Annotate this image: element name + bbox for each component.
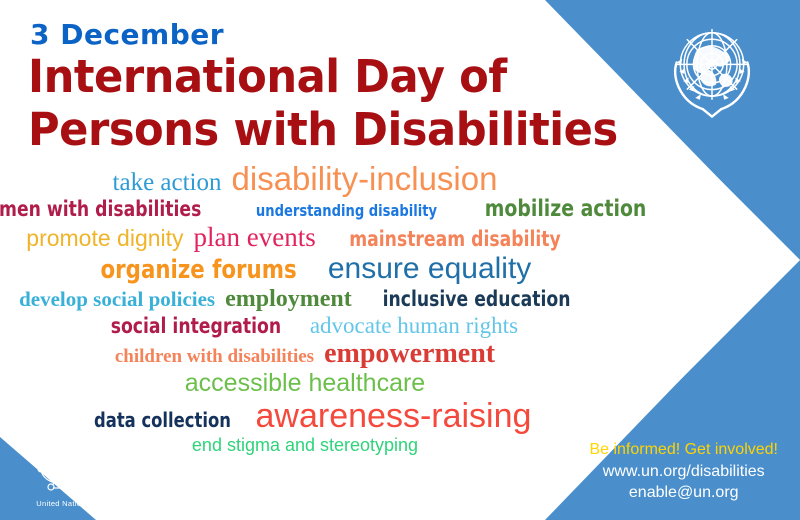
word-cloud-term: children with disabilities: [115, 347, 314, 366]
word-cloud-term: accessible healthcare: [185, 371, 425, 396]
accessible-logo-top-label: Accessible: [22, 441, 104, 448]
word-cloud-row: social integrationadvocate human rights: [0, 314, 610, 337]
contact-email[interactable]: enable@un.org: [589, 482, 778, 504]
word-cloud-term: advocate human rights: [310, 314, 518, 337]
word-cloud-row: develop social policiesemploymentinclusi…: [0, 287, 610, 311]
word-cloud-term: mainstream disability: [349, 229, 561, 250]
word-cloud-row: data collectionawareness-raising: [0, 399, 610, 433]
accessible-un-logo: Accessible United Nations: [22, 441, 104, 508]
word-cloud-term: inclusive education: [382, 289, 570, 310]
accessible-logo-bottom-label: United Nations: [22, 499, 104, 508]
word-cloud: take actiondisability-inclusionwomen wit…: [0, 162, 610, 457]
un-emblem-icon: [656, 16, 768, 124]
word-cloud-term: understanding disability: [256, 203, 437, 219]
word-cloud-row: children with disabilitiesempowerment: [0, 340, 610, 368]
word-cloud-row: accessible healthcare: [0, 371, 610, 396]
poster-canvas: 3 December International Day of Persons …: [0, 0, 800, 520]
word-cloud-term: plan events: [194, 224, 316, 251]
word-cloud-term: promote dignity: [26, 227, 183, 250]
word-cloud-term: empowerment: [324, 340, 495, 368]
word-cloud-term: employment: [225, 287, 352, 311]
word-cloud-term: mobilize action: [485, 198, 647, 221]
word-cloud-term: disability-inclusion: [232, 162, 498, 195]
contact-headline: Be informed! Get involved!: [589, 439, 778, 461]
contact-website[interactable]: www.un.org/disabilities: [589, 461, 778, 483]
word-cloud-term: ensure equality: [328, 254, 531, 284]
accessible-person-icon: [31, 449, 95, 493]
word-cloud-row: organize forumsensure equality: [0, 254, 610, 284]
date-label: 3 December: [30, 18, 224, 51]
word-cloud-term: women with disabilities: [0, 199, 201, 220]
word-cloud-row: promote dignityplan eventsmainstream dis…: [0, 224, 610, 251]
word-cloud-row: take actiondisability-inclusion: [0, 162, 610, 195]
word-cloud-term: data collection: [94, 410, 231, 430]
word-cloud-term: social integration: [111, 316, 281, 337]
title-line-2: Persons with Disabilities: [28, 103, 623, 156]
word-cloud-term: end stigma and stereotyping: [192, 436, 418, 454]
word-cloud-term: awareness-raising: [256, 399, 532, 433]
word-cloud-term: organize forums: [100, 257, 296, 283]
poster-title: International Day of Persons with Disabi…: [28, 50, 648, 156]
word-cloud-row: women with disabilitiesunderstanding dis…: [0, 198, 610, 221]
word-cloud-term: take action: [113, 170, 222, 195]
word-cloud-term: develop social policies: [19, 289, 215, 310]
title-line-1: International Day of: [28, 50, 623, 103]
contact-block: Be informed! Get involved! www.un.org/di…: [589, 439, 778, 504]
